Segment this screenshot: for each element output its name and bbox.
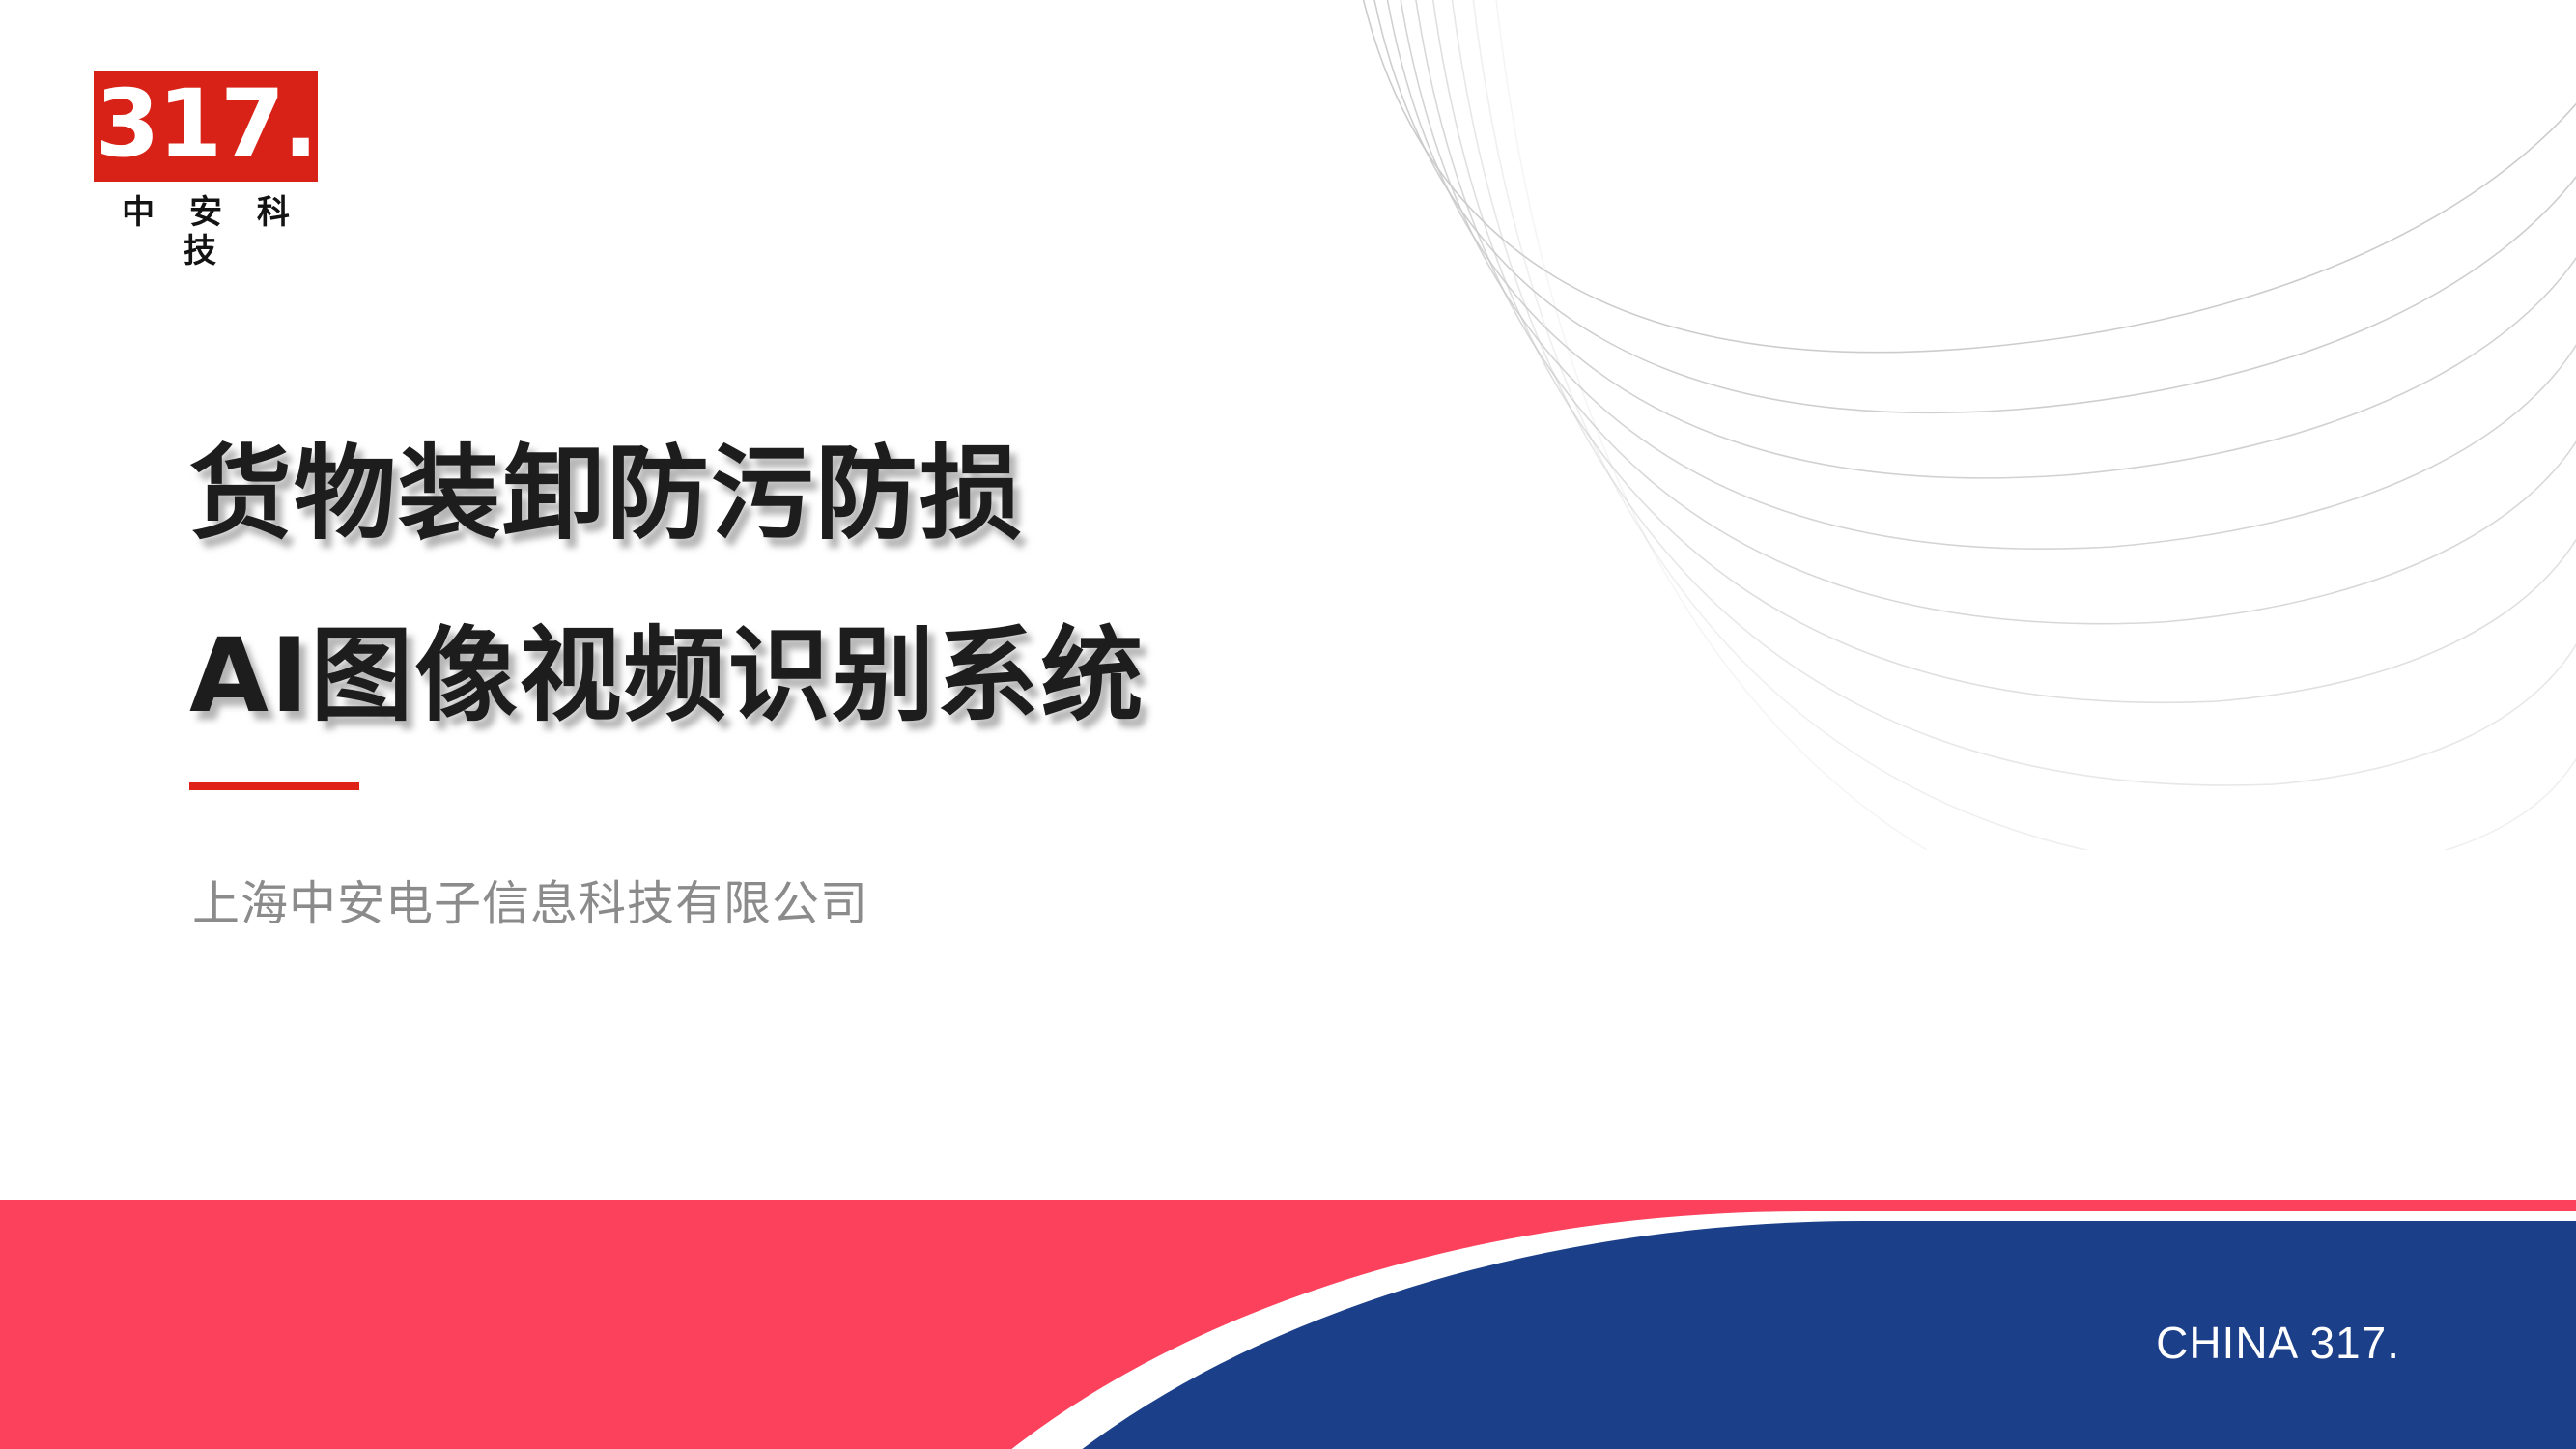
company-logo: 317. 中 安 科 技 [94,71,318,270]
footer-banner: CHINA 317. [0,1200,2576,1449]
page-title-line-2: AI图像视频识别系统 [189,585,1445,767]
decor-curve [1359,0,2576,353]
company-name-subtitle: 上海中安电子信息科技有限公司 [192,871,868,937]
title-slide: 317. 中 安 科 技 货物装卸防污防损 AI图像视频识别系统 上海中安电子信… [0,0,2576,1449]
decor-curve [1430,0,2576,702]
curved-line-fan-decoration [1301,0,2576,850]
decor-curve [1471,0,2576,850]
logo-mark-317: 317. [94,71,318,182]
page-title: 货物装卸防污防损 AI图像视频识别系统 [189,404,1445,767]
logo-company-short-name: 中 安 科 技 [94,193,318,270]
decor-curve [1384,0,2576,478]
decor-curve [1398,0,2576,549]
decor-curve [1450,0,2576,785]
title-divider-rule [189,782,359,790]
decor-curve [1413,0,2576,624]
decor-curve [1494,0,2576,850]
footer-brand-text: CHINA 317. [2156,1318,2400,1368]
page-title-line-1: 货物装卸防污防损 [189,404,1445,585]
decor-curve [1371,0,2576,412]
logo-mark-text: 317. [96,77,317,170]
